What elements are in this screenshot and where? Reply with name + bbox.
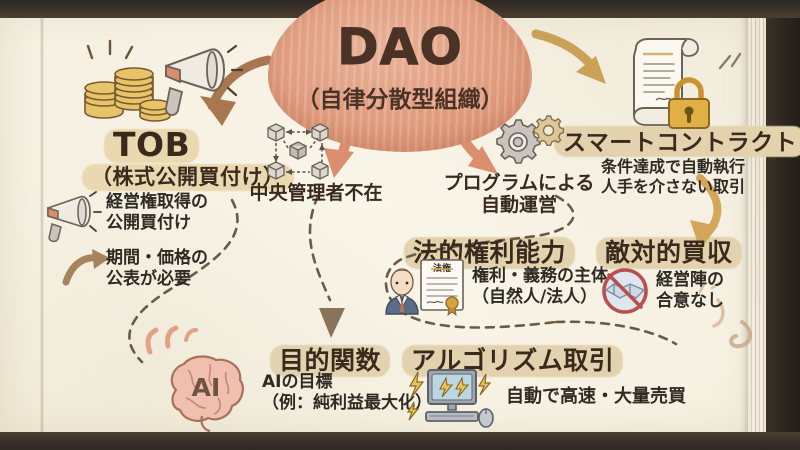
dashed-connector-center-to-objective [310,196,345,338]
infographic-canvas: DAO （自律分散型組織） [0,0,800,450]
page-title: DAO [268,18,532,76]
node-bullet-smart-contract: 条件達成で自動執行 人手を介さない取引 [578,157,768,196]
sparkle-lines-brain [148,328,196,352]
no-handshake-icon [600,266,650,316]
brain-label: AI [192,373,221,402]
distributed-nodes-icon [266,122,332,182]
page-subtitle: （自律分散型組織） [268,80,532,114]
node-bullet-hostile-takeover: 経営陣の 合意なし [656,270,724,311]
node-heading-no-central-admin: 中央管理者不在 [248,182,384,204]
certificate-label: 法権 [433,262,451,274]
sparkle-lines-contract [716,46,748,82]
certificate-icon: 法権 [418,258,466,316]
node-heading-smart-contract: スマートコントラクト [554,122,800,159]
megaphone-icon [148,44,234,120]
megaphone-icon-bullet [36,194,94,246]
ai-brain-icon: AI [158,352,250,432]
node-bullet-legal-capacity: 権利・義務の主体 （自然人/法人） [472,266,608,307]
monitor-lightning-icon [406,368,498,430]
businessman-icon [382,262,422,314]
node-bullet-tob-1: 経営権取得の 公開買付け [106,192,208,233]
node-bullet-tob-2: 期間・価格の 公表が必要 [106,248,208,289]
arrow-dao-to-smart-contract [536,34,606,84]
node-bullet-algorithmic-trading: 自動で高速・大量売買 [506,386,686,408]
